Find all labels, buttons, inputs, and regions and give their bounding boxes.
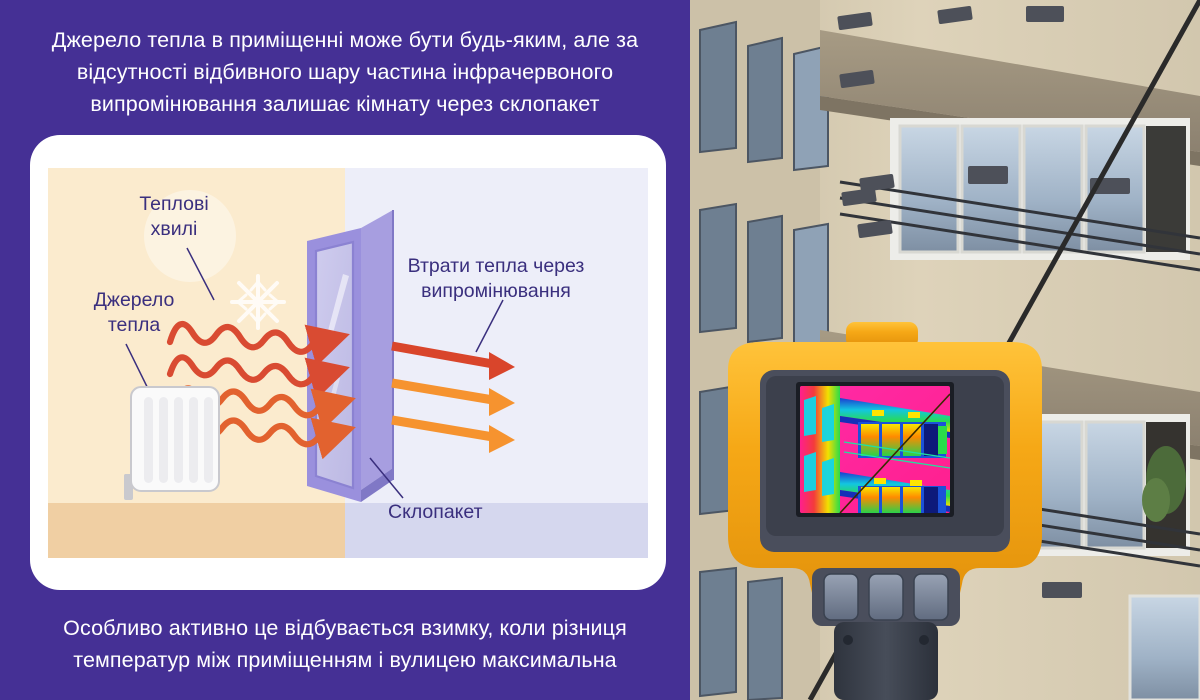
photo-panel (690, 0, 1200, 700)
radiator-fin (144, 397, 153, 483)
radiator-icon (124, 386, 220, 498)
radiator-fin (189, 397, 198, 483)
caption-bottom: Особливо активно це відбувається взимку,… (0, 612, 690, 676)
label-heat-waves: Теплові хвилі (94, 192, 254, 242)
diagram-illustration: Теплові хвилі Джерело тепла Втрати тепла… (48, 168, 648, 558)
diagram-card: Теплові хвилі Джерело тепла Втрати тепла… (30, 135, 666, 590)
label-glass-unit: Склопакет (388, 500, 588, 525)
caption-top: Джерело тепла в приміщенні може бути буд… (0, 24, 690, 120)
radiator-fin (174, 397, 183, 483)
label-heat-loss: Втрати тепла через випромінювання (366, 254, 626, 304)
radiator-fin (204, 397, 213, 483)
thermal-image-screen (800, 386, 950, 513)
radiator-fin (159, 397, 168, 483)
left-panel: Джерело тепла в приміщенні може бути буд… (0, 0, 690, 700)
label-heat-source: Джерело тепла (54, 288, 214, 338)
radiator-body (130, 386, 220, 492)
thermal-camera (712, 322, 1062, 700)
infographic-root: Джерело тепла в приміщенні може бути буд… (0, 0, 1200, 700)
